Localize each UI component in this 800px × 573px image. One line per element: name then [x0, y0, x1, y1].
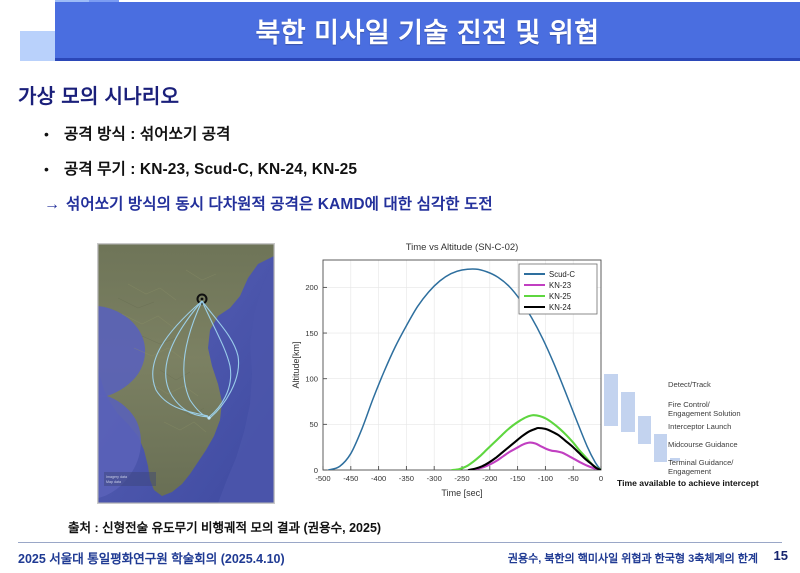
svg-text:-100: -100 [538, 474, 553, 483]
svg-text:-400: -400 [371, 474, 386, 483]
svg-text:200: 200 [305, 283, 318, 292]
svg-text:Time vs Altitude (SN-C-02): Time vs Altitude (SN-C-02) [406, 242, 519, 253]
intercept-stage-bar-2 [621, 392, 635, 432]
svg-text:150: 150 [305, 329, 318, 338]
intercept-stage-bar-1 [604, 374, 618, 426]
svg-text:-300: -300 [427, 474, 442, 483]
intercept-stage-bar-4 [654, 434, 667, 462]
trajectory-map-image: Imagery data Map data [97, 243, 275, 504]
svg-text:-350: -350 [399, 474, 414, 483]
intercept-stage-label-1: Detect/Track [668, 380, 711, 389]
altitude-time-chart: Time vs Altitude (SN-C-02)-500-450-400-3… [283, 232, 623, 504]
svg-text:-450: -450 [343, 474, 358, 483]
intercept-note: Time available to achieve intercept [617, 478, 759, 488]
svg-text:50: 50 [310, 420, 318, 429]
svg-text:Imagery data: Imagery data [106, 475, 127, 479]
header-decor-square-4 [0, 31, 20, 61]
svg-text:KN-23: KN-23 [549, 281, 571, 290]
footer-left-text: 2025 서울대 통일평화연구원 학술회의 (2025.4.10) [18, 548, 285, 567]
svg-text:-200: -200 [482, 474, 497, 483]
arrow-right-icon: → [44, 196, 66, 214]
svg-text:100: 100 [305, 374, 318, 383]
bullet-item-1: • 공격 방식 : 섞어쏘기 공격 [44, 122, 684, 144]
svg-text:KN-25: KN-25 [549, 292, 572, 301]
footer-divider [18, 542, 782, 543]
header-underline [55, 58, 800, 61]
header-decor-square-1 [20, 0, 55, 31]
svg-text:Altitude[km]: Altitude[km] [291, 341, 301, 388]
bullet-item-2: • 공격 무기 : KN-23, Scud-C, KN-24, KN-25 [44, 157, 684, 179]
svg-text:-500: -500 [315, 474, 330, 483]
svg-text:-150: -150 [510, 474, 525, 483]
bullet-marker-icon: • [44, 127, 64, 141]
footer-right-text: 권용수, 북한의 핵미사일 위협과 한국형 3축체계의 한계 [508, 550, 758, 566]
conclusion-line: → 섞어쏘기 방식의 동시 다차원적 공격은 KAMD에 대한 심각한 도전 [44, 192, 684, 214]
bullet-list: • 공격 방식 : 섞어쏘기 공격 • 공격 무기 : KN-23, Scud-… [44, 122, 684, 214]
slide: 북한 미사일 기술 진전 및 위협 가상 모의 시나리오 • 공격 방식 : 섞… [0, 0, 800, 573]
section-heading: 가상 모의 시나리오 [18, 80, 179, 109]
chart-svg: Time vs Altitude (SN-C-02)-500-450-400-3… [283, 232, 623, 504]
svg-text:Scud-C: Scud-C [549, 270, 575, 279]
svg-text:-250: -250 [454, 474, 469, 483]
svg-text:KN-24: KN-24 [549, 303, 572, 312]
bullet-text-2: 공격 무기 : KN-23, Scud-C, KN-24, KN-25 [64, 157, 357, 179]
page-number: 15 [774, 548, 788, 563]
svg-text:Time [sec]: Time [sec] [441, 488, 482, 498]
svg-text:Map data: Map data [106, 480, 121, 484]
intercept-stage-label-5: Terminal Guidance/ Engagement [668, 458, 733, 477]
bullet-text-1: 공격 방식 : 섞어쏘기 공격 [64, 122, 231, 144]
source-caption: 출처 : 신형전술 유도무기 비행궤적 모의 결과 (권용수, 2025) [68, 517, 381, 536]
conclusion-text: 섞어쏘기 방식의 동시 다차원적 공격은 KAMD에 대한 심각한 도전 [66, 192, 493, 214]
intercept-stage-label-3: Interceptor Launch [668, 422, 731, 431]
map-graphic: Imagery data Map data [98, 244, 274, 503]
intercept-stage-bar-3 [638, 416, 651, 444]
bullet-marker-icon: • [44, 162, 64, 176]
slide-header: 북한 미사일 기술 진전 및 위협 [0, 0, 800, 62]
intercept-stage-label-4: Midcourse Guidance [668, 440, 738, 449]
intercept-stage-label-2: Fire Control/ Engagement Solution [668, 400, 741, 419]
svg-text:-50: -50 [568, 474, 579, 483]
slide-title: 북한 미사일 기술 진전 및 위협 [55, 2, 800, 58]
svg-text:0: 0 [314, 466, 318, 475]
header-decor-square-5 [20, 31, 55, 61]
